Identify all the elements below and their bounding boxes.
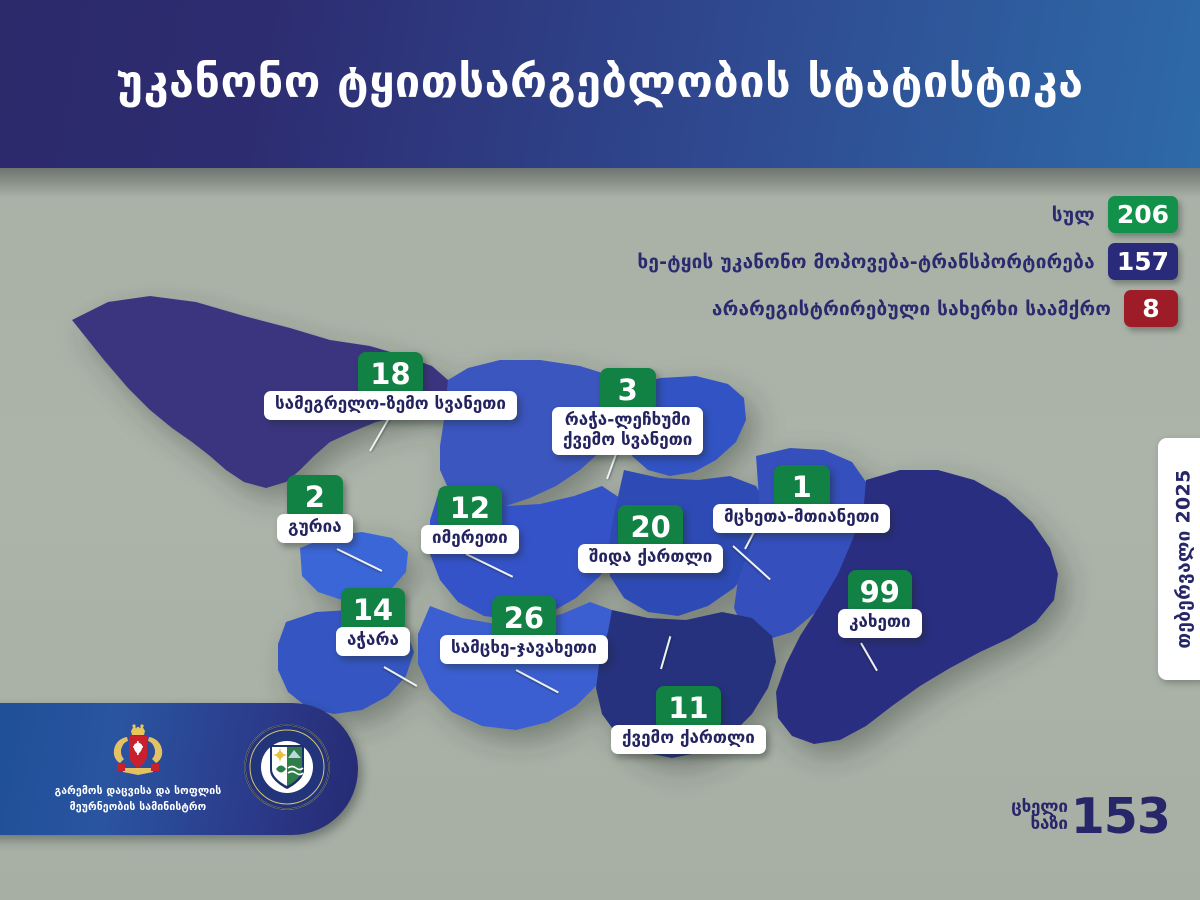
header-banner: უკანონო ტყითსარგებლობის სტატისტიკა	[0, 0, 1200, 168]
marker-label: სამეგრელო-ზემო სვანეთი	[264, 391, 517, 420]
marker-count: 26	[492, 596, 556, 640]
legend-value-unregistered-sawmill: 8	[1124, 290, 1178, 327]
legend-label-illegal-logging: ხე-ტყის უკანონო მოპოვება-ტრანსპორტირება	[637, 251, 1094, 273]
marker-count: 2	[287, 475, 343, 519]
marker-label: აჭარა	[336, 627, 410, 656]
marker-samegrelo-zemo-svaneti[interactable]: 18 სამეგრელო-ზემო სვანეთი	[264, 352, 517, 420]
marker-label-line1: რაჭა-ლეჩხუმი	[565, 410, 691, 430]
marker-label: სამცხე-ჯავახეთი	[440, 635, 608, 664]
marker-mtskheta-mtianeti[interactable]: 1 მცხეთა-მთიანეთი	[713, 465, 890, 533]
marker-count: 12	[438, 486, 502, 530]
marker-guria[interactable]: 2 გურია	[277, 475, 353, 543]
marker-label: კახეთი	[838, 609, 922, 638]
hotline-number: 153	[1071, 795, 1170, 838]
marker-label: გურია	[277, 514, 353, 543]
hotline: ცხელი ხაზი 153	[1011, 795, 1170, 838]
legend-row-total: სულ 206	[1052, 196, 1178, 233]
marker-count: 18	[358, 352, 422, 396]
hotline-label-line2: ხაზი	[1011, 816, 1068, 833]
marker-label: შიდა ქართლი	[578, 544, 723, 573]
marker-racha-lechkhumi-kvemo-svaneti[interactable]: 3 რაჭა-ლეჩხუმი ქვემო სვანეთი	[552, 368, 703, 455]
ministry-seal-wrap	[244, 724, 330, 814]
ministry-seal-icon	[244, 724, 330, 810]
legend: სულ 206 ხე-ტყის უკანონო მოპოვება-ტრანსპო…	[637, 196, 1178, 327]
marker-kvemo-kartli[interactable]: 11 ქვემო ქართლი	[611, 686, 766, 754]
date-tab-label: თებერვალი 2025	[1173, 469, 1195, 648]
marker-label: რაჭა-ლეჩხუმი ქვემო სვანეთი	[552, 407, 703, 455]
date-tab: თებერვალი 2025	[1158, 438, 1200, 680]
legend-value-total: 206	[1108, 196, 1178, 233]
marker-imereti[interactable]: 12 იმერეთი	[421, 486, 519, 554]
marker-count: 20	[618, 505, 682, 549]
legend-value-illegal-logging: 157	[1108, 243, 1178, 280]
marker-count: 99	[848, 570, 912, 614]
marker-samtskhe-javakheti[interactable]: 26 სამცხე-ჯავახეთი	[440, 596, 608, 664]
marker-count: 1	[774, 465, 830, 509]
marker-label: იმერეთი	[421, 525, 519, 554]
marker-label-line2: ქვემო სვანეთი	[563, 430, 692, 450]
legend-label-total: სულ	[1052, 204, 1095, 226]
legend-label-unregistered-sawmill: არარეგისტრირებული სახერხი საამქრო	[712, 298, 1111, 320]
ministry-branding: გარემოს დაცვისა და სოფლის მეურნეობის სამ…	[48, 723, 228, 816]
marker-adjara[interactable]: 14 აჭარა	[336, 588, 410, 656]
marker-kakheti[interactable]: 99 კახეთი	[838, 570, 922, 638]
marker-count: 14	[341, 588, 405, 632]
hotline-label: ცხელი ხაზი	[1011, 799, 1068, 834]
marker-label: მცხეთა-მთიანეთი	[713, 504, 890, 533]
georgia-coat-of-arms-icon	[105, 723, 171, 779]
marker-shida-kartli[interactable]: 20 შიდა ქართლი	[578, 505, 723, 573]
marker-count: 11	[656, 686, 720, 730]
ministry-footer: გარემოს დაცვისა და სოფლის მეურნეობის სამ…	[0, 703, 358, 835]
infographic-canvas: უკანონო ტყითსარგებლობის სტატისტიკა სულ 2…	[0, 0, 1200, 900]
legend-row-illegal-logging: ხე-ტყის უკანონო მოპოვება-ტრანსპორტირება …	[637, 243, 1178, 280]
map-regions-group	[72, 296, 1058, 758]
legend-row-unregistered-sawmill: არარეგისტრირებული სახერხი საამქრო 8	[712, 290, 1178, 327]
ministry-name: გარემოს დაცვისა და სოფლის მეურნეობის სამ…	[55, 784, 222, 816]
page-title: უკანონო ტყითსარგებლობის სტატისტიკა	[116, 59, 1083, 110]
ministry-name-line2: მეურნეობის სამინისტრო	[70, 801, 207, 813]
marker-count: 3	[600, 368, 656, 412]
ministry-name-line1: გარემოს დაცვისა და სოფლის	[55, 785, 222, 797]
marker-label: ქვემო ქართლი	[611, 725, 766, 754]
